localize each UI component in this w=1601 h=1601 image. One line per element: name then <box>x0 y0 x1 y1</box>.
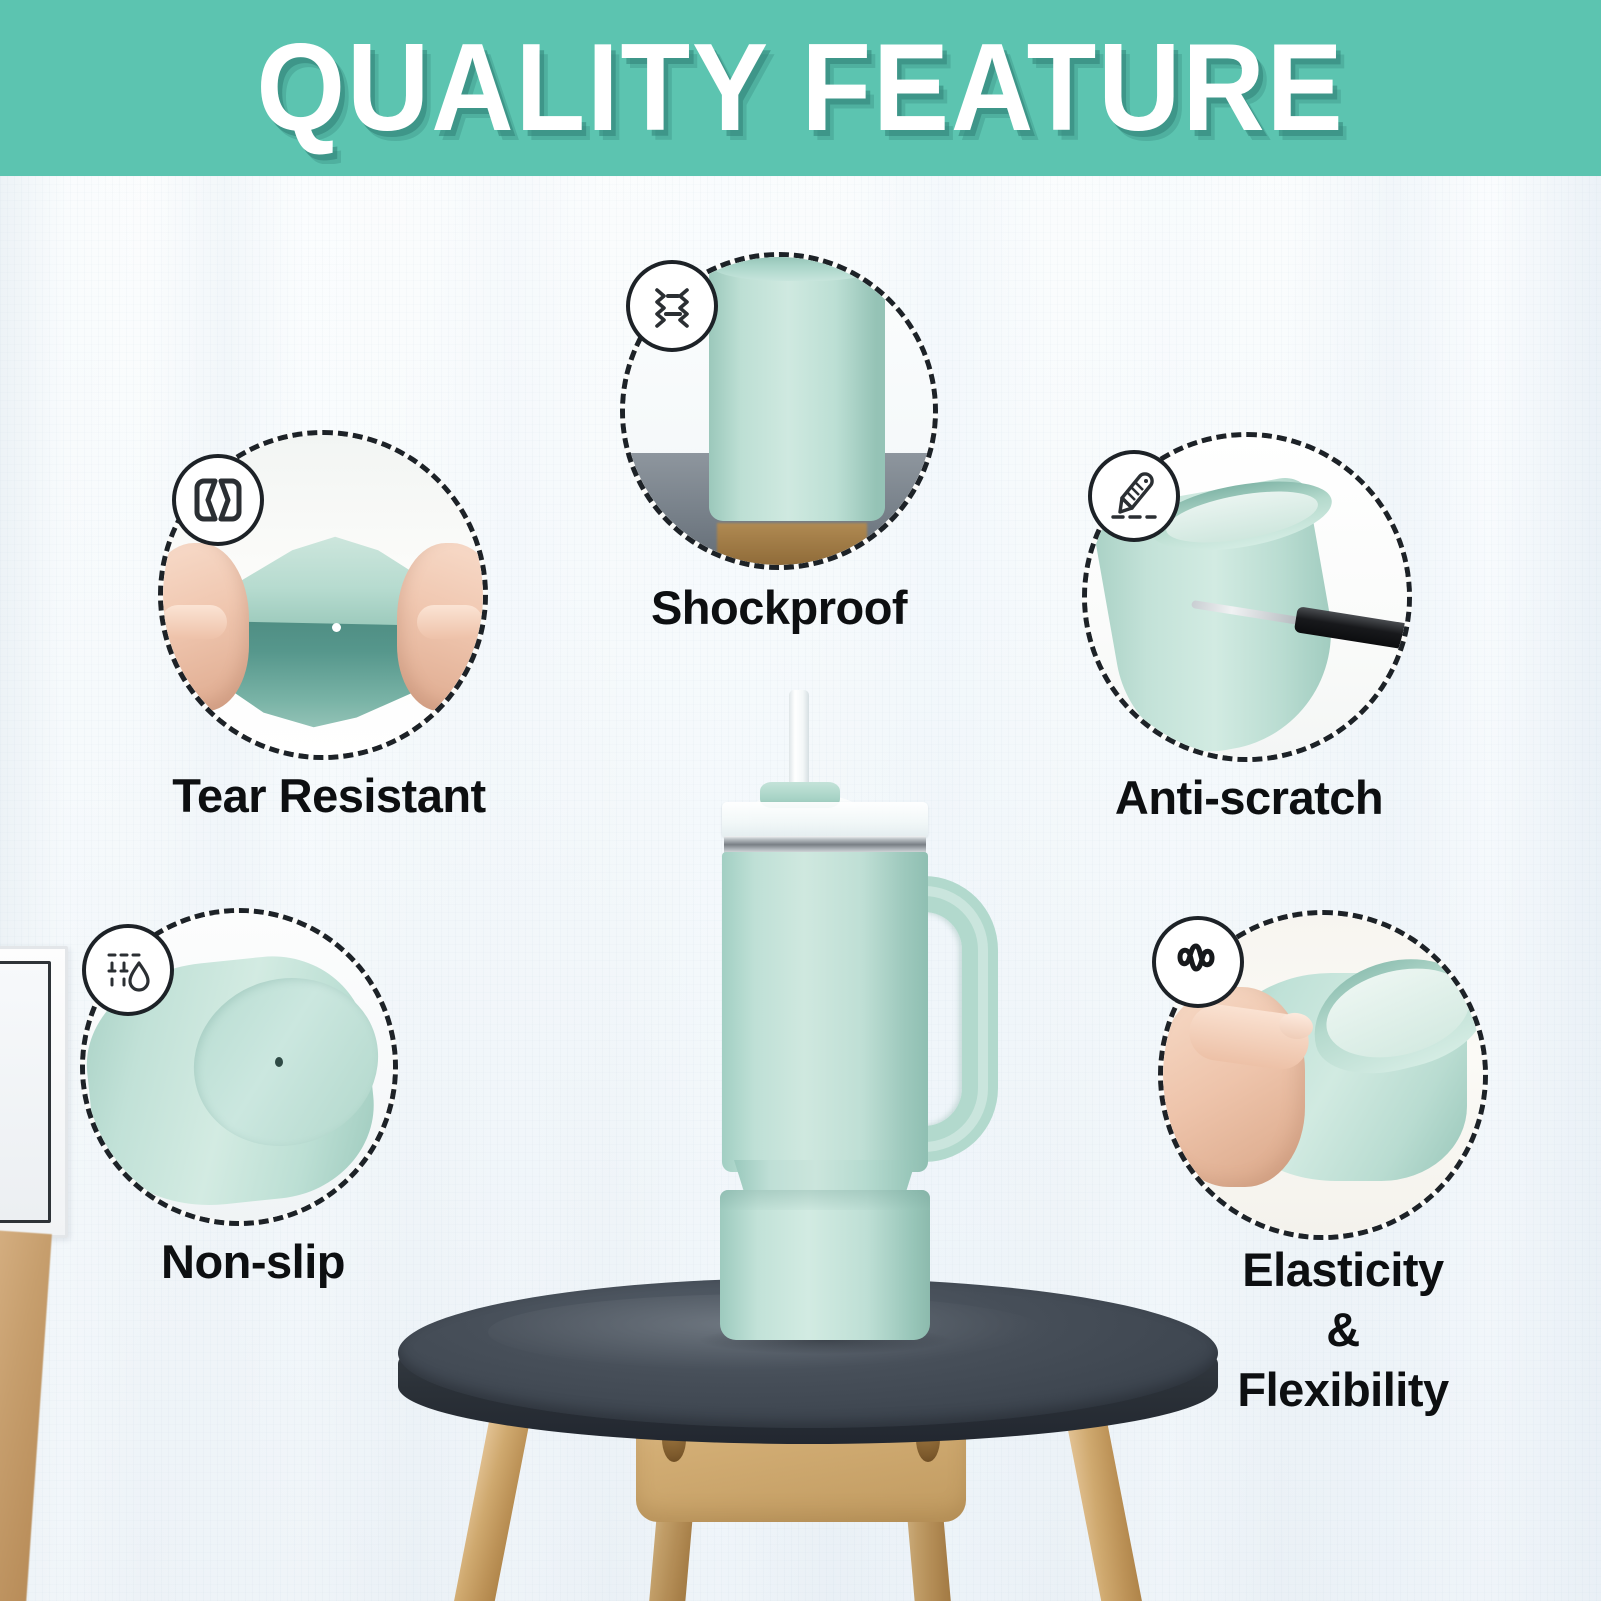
tumbler-boot-lip <box>720 1190 930 1210</box>
shock-wood-leg <box>717 523 867 565</box>
hand-right <box>397 543 483 711</box>
spring-coil-icon-glyph <box>1169 933 1227 991</box>
table-leg-front-right <box>1066 1414 1145 1601</box>
tumbler-straw <box>789 690 809 790</box>
shock-vibration-icon <box>626 260 718 352</box>
water-droplet-grip-icon-glyph <box>99 941 157 999</box>
blade-scratch-icon-glyph <box>1106 468 1162 524</box>
feature-label-non-slip: Non-slip <box>58 1234 448 1289</box>
shock-vibration-icon-glyph <box>644 278 700 334</box>
feature-non-slip: Non-slip <box>80 908 420 1308</box>
shock-boot-body <box>709 257 885 521</box>
tumbler-lid <box>722 802 928 838</box>
page-title: QUALITY FEATURE <box>64 22 1537 154</box>
nonslip-center-dot <box>275 1057 283 1067</box>
tear-stretch-icon <box>172 454 264 546</box>
table-leg-front-left <box>450 1414 529 1601</box>
feature-tear-resistant: Tear Resistant <box>158 430 498 830</box>
feature-label-shockproof: Shockproof <box>584 580 974 635</box>
tumbler-body <box>722 852 928 1172</box>
feature-label-tear-resistant: Tear Resistant <box>134 768 524 823</box>
feature-elasticity-flexibility: Elasticity & Flexibility <box>1158 910 1528 1430</box>
feature-label-anti-scratch: Anti-scratch <box>1054 770 1444 825</box>
feature-shockproof: Shockproof <box>620 252 950 672</box>
tumbler-silicone-boot <box>720 1190 930 1340</box>
cabinet-furniture <box>0 946 68 1238</box>
feature-label-elasticity-flexibility: Elasticity & Flexibility <box>1148 1240 1538 1420</box>
feature-anti-scratch: Anti-scratch <box>1082 432 1442 832</box>
product-tumbler <box>690 690 1010 1340</box>
finger-right <box>417 605 483 639</box>
blade-scratch-icon <box>1088 450 1180 542</box>
water-droplet-grip-icon <box>82 924 174 1016</box>
cabinet-drawer-panel <box>0 961 51 1223</box>
finger-left <box>163 605 227 639</box>
header-band: QUALITY FEATURE <box>0 0 1601 176</box>
hand-left <box>163 543 249 711</box>
silicone-sheet-dot <box>332 623 341 632</box>
spring-coil-icon <box>1152 916 1244 1008</box>
tear-stretch-icon-glyph <box>190 472 246 528</box>
